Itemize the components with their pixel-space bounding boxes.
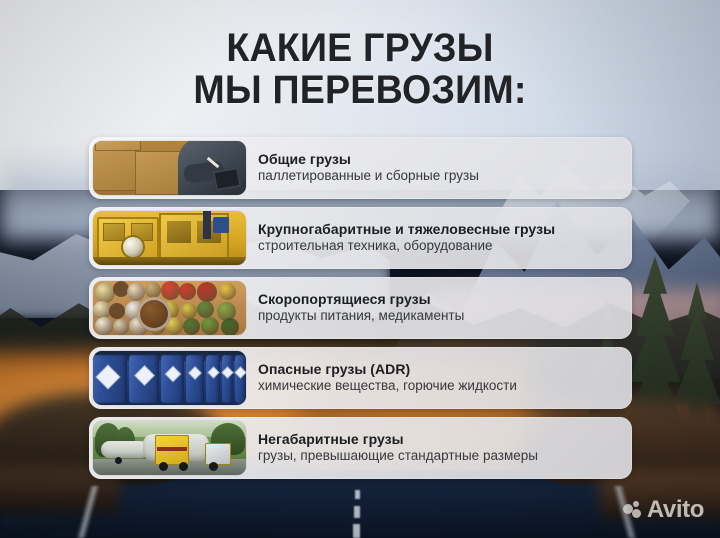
cargo-thumbnail-perishable [93, 281, 246, 335]
list-item-text: Общие грузы паллетированные и сборные гр… [258, 151, 489, 185]
page-title-line-2: МЫ ПЕРЕВОЗИМ: [22, 70, 699, 112]
list-item-subtitle: грузы, превышающие стандартные размеры [258, 448, 538, 465]
avito-dots-logo-icon [623, 501, 642, 520]
avito-wordmark: Avito [647, 496, 704, 524]
list-item[interactable]: Крупногабаритные и тяжеловесные грузы ст… [89, 207, 632, 269]
list-item-text: Опасные грузы (ADR) химические вещества,… [258, 361, 527, 395]
list-item[interactable]: Скоропортящиеся грузы продукты питания, … [89, 277, 632, 339]
list-item[interactable]: Общие грузы паллетированные и сборные гр… [89, 137, 632, 199]
list-item-subtitle: паллетированные и сборные грузы [258, 168, 479, 185]
cargo-thumbnail-dangerous-adr [93, 351, 246, 405]
list-item-text: Негабаритные грузы грузы, превышающие ст… [258, 431, 548, 465]
list-item-text: Скоропортящиеся грузы продукты питания, … [258, 291, 474, 325]
list-item-title: Крупногабаритные и тяжеловесные грузы [258, 221, 555, 238]
cargo-thumbnail-general [93, 141, 246, 195]
page-title-line-1: КАКИЕ ГРУЗЫ [22, 28, 699, 70]
list-item-text: Крупногабаритные и тяжеловесные грузы ст… [258, 221, 565, 255]
avito-watermark: Avito [623, 496, 704, 524]
list-item-title: Скоропортящиеся грузы [258, 291, 464, 308]
cargo-thumbnail-oversize-heavy [93, 211, 246, 265]
cargo-thumbnail-out-of-gauge [93, 421, 246, 475]
cargo-type-list: Общие грузы паллетированные и сборные гр… [89, 137, 632, 479]
list-item-title: Общие грузы [258, 151, 479, 168]
list-item-subtitle: строительная техника, оборудование [258, 238, 555, 255]
list-item-title: Опасные грузы (ADR) [258, 361, 517, 378]
list-item[interactable]: Негабаритные грузы грузы, превышающие ст… [89, 417, 632, 479]
list-item-title: Негабаритные грузы [258, 431, 538, 448]
list-item-subtitle: продукты питания, медикаменты [258, 308, 464, 325]
list-item-subtitle: химические вещества, горючие жидкости [258, 378, 517, 395]
list-item[interactable]: Опасные грузы (ADR) химические вещества,… [89, 347, 632, 409]
page-title: КАКИЕ ГРУЗЫ МЫ ПЕРЕВОЗИМ: [0, 28, 720, 111]
